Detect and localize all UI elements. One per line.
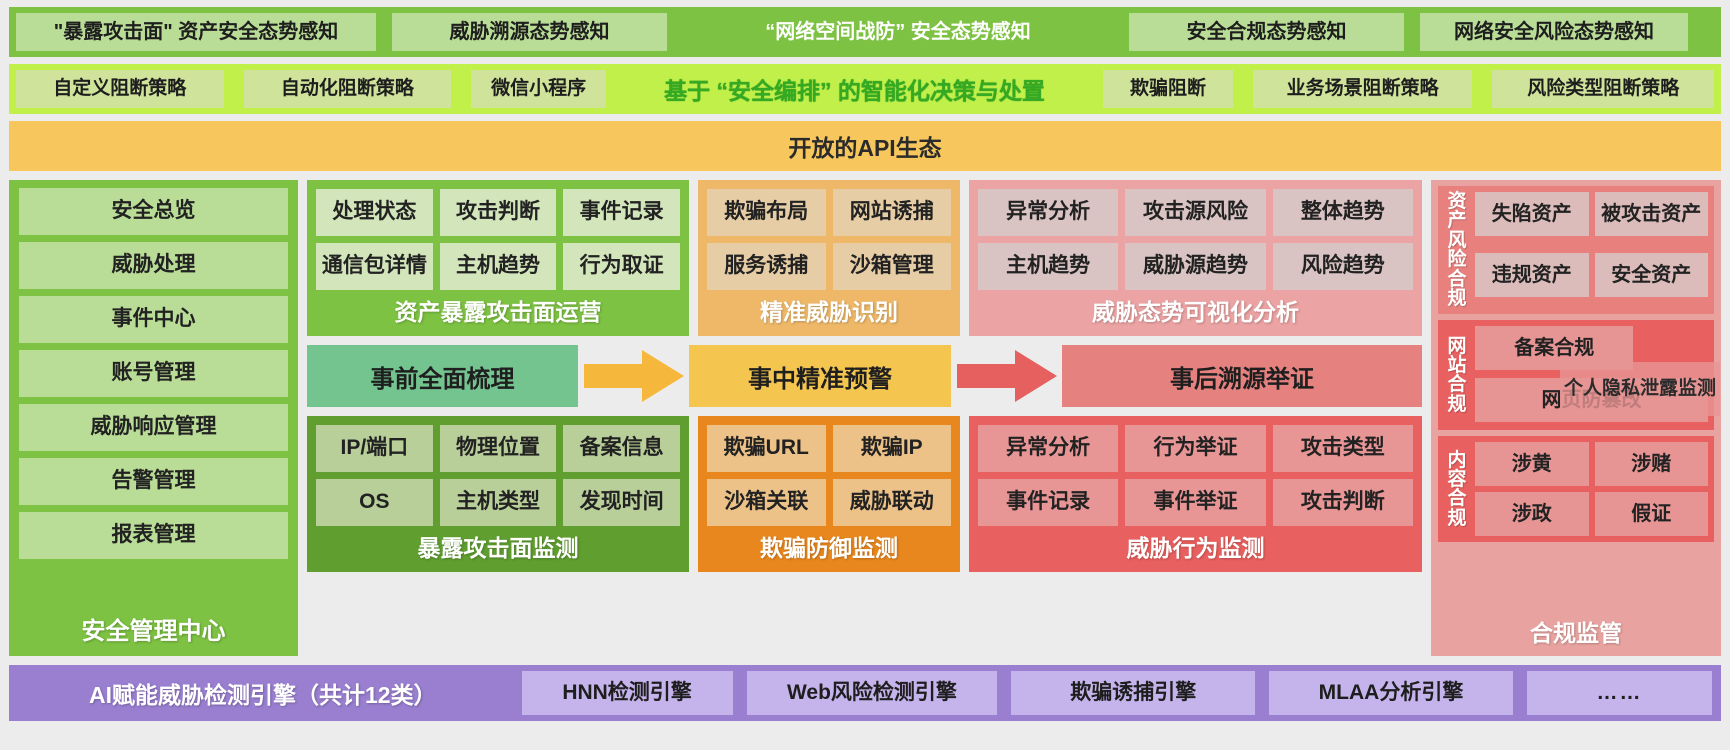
- panel-threat-situation-visualization: 异常分析 攻击源风险 整体趋势 主机趋势 威胁源趋势 风险趋势 威胁态势可视化分…: [969, 180, 1422, 336]
- panel-title-exposure-attack-monitor: 暴露攻击面监测: [316, 526, 680, 568]
- cell-sandbox-mgmt[interactable]: 沙箱管理: [833, 243, 952, 290]
- orchestration-item-risk-type-policy[interactable]: 风险类型阻断策略: [1492, 70, 1714, 108]
- cell-host-trend[interactable]: 主机趋势: [440, 243, 557, 290]
- smc-item-account-mgmt[interactable]: 账号管理: [19, 350, 288, 397]
- compliance-label-content: 内容合规: [1444, 442, 1470, 536]
- compliance-block-content: 内容合规 涉黄 涉赌 涉政 假证: [1438, 436, 1714, 542]
- compliance-label-asset-risk: 资产风险合规: [1444, 192, 1470, 308]
- cell-attack-judgement[interactable]: 攻击判断: [1273, 479, 1413, 526]
- panel-title-precise-threat-identification: 精准威胁识别: [707, 290, 951, 332]
- cell-threat-source-trend[interactable]: 威胁源趋势: [1125, 243, 1265, 290]
- arrow-right-icon: [584, 350, 684, 402]
- orchestration-item-custom-block-policy[interactable]: 自定义阻断策略: [16, 70, 224, 108]
- orchestration-item-auto-block-policy[interactable]: 自动化阻断策略: [244, 70, 452, 108]
- compliance-supervision-column: 资产风险合规 失陷资产 被攻击资产 违规资产 安全资产 网站合规 备案合规 网页…: [1431, 180, 1721, 656]
- arrow-pre-to-mid: [578, 345, 689, 407]
- cell-behavior-forensics[interactable]: 行为取证: [563, 243, 680, 290]
- cell-gambling[interactable]: 涉赌: [1595, 442, 1709, 486]
- cell-service-trap[interactable]: 服务诱捕: [707, 243, 826, 290]
- cell-icp-record-info[interactable]: 备案信息: [563, 425, 680, 472]
- panel-title-threat-situation-visualization: 威胁态势可视化分析: [978, 290, 1413, 332]
- compliance-footer-title: 合规监管: [1438, 608, 1714, 652]
- cell-violating-assets[interactable]: 违规资产: [1475, 253, 1589, 297]
- panel-grid: 欺骗URL 欺骗IP 沙箱关联 威胁联动: [707, 425, 951, 526]
- orchestration-item-wechat-miniprogram[interactable]: 微信小程序: [471, 70, 606, 108]
- cell-behavior-evidence[interactable]: 行为举证: [1125, 425, 1265, 472]
- cell-host-type[interactable]: 主机类型: [440, 479, 557, 526]
- cell-attack-type[interactable]: 攻击类型: [1273, 425, 1413, 472]
- engine-deception-trap[interactable]: 欺骗诱捕引擎: [1011, 671, 1255, 715]
- cell-compromised-assets[interactable]: 失陷资产: [1475, 192, 1589, 236]
- perception-band-title: “网络空间战防” 安全态势感知: [683, 13, 1113, 51]
- cell-sandbox-relation[interactable]: 沙箱关联: [707, 479, 826, 526]
- cell-deception-url[interactable]: 欺骗URL: [707, 425, 826, 472]
- engines-band: AI赋能威胁检测引擎（共计12类） HNN检测引擎 Web风险检测引擎 欺骗诱捕…: [9, 665, 1721, 721]
- cell-anomaly-analysis[interactable]: 异常分析: [978, 425, 1118, 472]
- cell-overall-trend[interactable]: 整体趋势: [1273, 189, 1413, 236]
- orchestration-band: 自定义阻断策略 自动化阻断策略 微信小程序 基于 “安全编排” 的智能化决策与处…: [9, 64, 1721, 114]
- engines-band-title: AI赋能威胁检测引擎（共计12类）: [18, 671, 508, 715]
- cell-privacy-leak-monitor[interactable]: 个人隐私泄露监测: [1560, 362, 1720, 416]
- bottom-panel-row: IP/端口 物理位置 备案信息 OS 主机类型 发现时间 暴露攻击面监测 欺骗U…: [307, 416, 1422, 572]
- panel-grid: 欺骗布局 网站诱捕 服务诱捕 沙箱管理: [707, 189, 951, 290]
- perception-item-threat-tracing[interactable]: 威胁溯源态势感知: [392, 13, 667, 51]
- panel-asset-exposure-ops: 处理状态 攻击判断 事件记录 通信包详情 主机趋势 行为取证 资产暴露攻击面运营: [307, 180, 689, 336]
- compliance-cells: 涉黄 涉赌 涉政 假证: [1475, 442, 1708, 536]
- cell-event-record[interactable]: 事件记录: [563, 189, 680, 236]
- cell-threat-linkage[interactable]: 威胁联动: [833, 479, 952, 526]
- smc-item-overview[interactable]: 安全总览: [19, 188, 288, 235]
- panel-threat-behavior-monitor: 异常分析 行为举证 攻击类型 事件记录 事件举证 攻击判断 威胁行为监测: [969, 416, 1422, 572]
- smc-item-event-center[interactable]: 事件中心: [19, 296, 288, 343]
- perception-band: "暴露攻击面" 资产安全态势感知 威胁溯源态势感知 “网络空间战防” 安全态势感…: [9, 7, 1721, 57]
- cell-deception-ip[interactable]: 欺骗IP: [833, 425, 952, 472]
- panel-precise-threat-identification: 欺骗布局 网站诱捕 服务诱捕 沙箱管理 精准威胁识别: [698, 180, 960, 336]
- cell-political[interactable]: 涉政: [1475, 492, 1589, 536]
- compliance-cells: 失陷资产 被攻击资产 违规资产 安全资产: [1475, 192, 1708, 308]
- api-ecosystem-band: 开放的API生态: [9, 121, 1721, 171]
- security-management-center-column: 安全总览 威胁处理 事件中心 账号管理 威胁响应管理 告警管理 报表管理 安全管…: [9, 180, 298, 656]
- panel-grid: 异常分析 攻击源风险 整体趋势 主机趋势 威胁源趋势 风险趋势: [978, 189, 1413, 290]
- arrow-mid-to-post: [951, 345, 1062, 407]
- stage-during-incident: 事中精准预警: [689, 345, 951, 407]
- cell-attack-judgement[interactable]: 攻击判断: [440, 189, 557, 236]
- main-content: 安全总览 威胁处理 事件中心 账号管理 威胁响应管理 告警管理 报表管理 安全管…: [9, 180, 1721, 656]
- compliance-block-asset-risk: 资产风险合规 失陷资产 被攻击资产 违规资产 安全资产: [1438, 186, 1714, 314]
- cell-attack-source-risk[interactable]: 攻击源风险: [1125, 189, 1265, 236]
- compliance-label-website: 网站合规: [1444, 326, 1470, 424]
- arrow-right-icon: [957, 350, 1057, 402]
- cell-secure-assets[interactable]: 安全资产: [1595, 253, 1709, 297]
- smc-item-report-mgmt[interactable]: 报表管理: [19, 512, 288, 559]
- stage-post-incident: 事后溯源举证: [1062, 345, 1422, 407]
- cell-pornography[interactable]: 涉黄: [1475, 442, 1589, 486]
- smc-item-alarm-mgmt[interactable]: 告警管理: [19, 458, 288, 505]
- panel-title-asset-exposure-ops: 资产暴露攻击面运营: [316, 290, 680, 332]
- engine-hnn[interactable]: HNN检测引擎: [522, 671, 733, 715]
- center-stack: 处理状态 攻击判断 事件记录 通信包详情 主机趋势 行为取证 资产暴露攻击面运营…: [307, 180, 1422, 656]
- cell-website-trap[interactable]: 网站诱捕: [833, 189, 952, 236]
- perception-item-asset-exposure[interactable]: "暴露攻击面" 资产安全态势感知: [16, 13, 376, 51]
- orchestration-band-title: 基于 “安全编排” 的智能化决策与处置: [620, 70, 1089, 108]
- perception-item-network-risk[interactable]: 网络安全风险态势感知: [1420, 13, 1688, 51]
- panel-exposure-attack-monitor: IP/端口 物理位置 备案信息 OS 主机类型 发现时间 暴露攻击面监测: [307, 416, 689, 572]
- cell-attacked-assets[interactable]: 被攻击资产: [1595, 192, 1709, 236]
- cell-risk-trend[interactable]: 风险趋势: [1273, 243, 1413, 290]
- cell-fake-cert[interactable]: 假证: [1595, 492, 1709, 536]
- panel-grid: 处理状态 攻击判断 事件记录 通信包详情 主机趋势 行为取证: [316, 189, 680, 290]
- panel-grid: IP/端口 物理位置 备案信息 OS 主机类型 发现时间: [316, 425, 680, 526]
- stage-flow-row: 事前全面梳理 事中精准预警 事后溯源举证: [307, 345, 1422, 407]
- compliance-block-website: 网站合规 备案合规 网页防篡改 个人隐私泄露监测: [1438, 320, 1714, 430]
- perception-item-compliance[interactable]: 安全合规态势感知: [1129, 13, 1404, 51]
- engine-mlaa[interactable]: MLAA分析引擎: [1269, 671, 1513, 715]
- cell-ip-port[interactable]: IP/端口: [316, 425, 433, 472]
- panel-title-deception-defense-monitor: 欺骗防御监测: [707, 526, 951, 568]
- panel-title-threat-behavior-monitor: 威胁行为监测: [978, 526, 1413, 568]
- smc-item-threat-handling[interactable]: 威胁处理: [19, 242, 288, 289]
- stage-pre-incident: 事前全面梳理: [307, 345, 578, 407]
- panel-deception-defense-monitor: 欺骗URL 欺骗IP 沙箱关联 威胁联动 欺骗防御监测: [698, 416, 960, 572]
- smc-footer-title: 安全管理中心: [82, 609, 226, 652]
- architecture-diagram: "暴露攻击面" 资产安全态势感知 威胁溯源态势感知 “网络空间战防” 安全态势感…: [0, 0, 1730, 750]
- cell-deception-layout[interactable]: 欺骗布局: [707, 189, 826, 236]
- cell-physical-location[interactable]: 物理位置: [440, 425, 557, 472]
- cell-host-trend[interactable]: 主机趋势: [978, 243, 1118, 290]
- engine-more-ellipsis[interactable]: ……: [1527, 671, 1712, 715]
- cell-processing-status[interactable]: 处理状态: [316, 189, 433, 236]
- cell-os[interactable]: OS: [316, 479, 433, 526]
- top-panel-row: 处理状态 攻击判断 事件记录 通信包详情 主机趋势 行为取证 资产暴露攻击面运营…: [307, 180, 1422, 336]
- cell-event-record[interactable]: 事件记录: [978, 479, 1118, 526]
- cell-packet-detail[interactable]: 通信包详情: [316, 243, 433, 290]
- smc-item-threat-response[interactable]: 威胁响应管理: [19, 404, 288, 451]
- orchestration-item-deception-block[interactable]: 欺骗阻断: [1103, 70, 1233, 108]
- engine-web-risk[interactable]: Web风险检测引擎: [747, 671, 998, 715]
- cell-event-evidence[interactable]: 事件举证: [1125, 479, 1265, 526]
- orchestration-item-business-scene-policy[interactable]: 业务场景阻断策略: [1253, 70, 1473, 108]
- panel-grid: 异常分析 行为举证 攻击类型 事件记录 事件举证 攻击判断: [978, 425, 1413, 526]
- cell-discovery-time[interactable]: 发现时间: [563, 479, 680, 526]
- cell-anomaly-analysis[interactable]: 异常分析: [978, 189, 1118, 236]
